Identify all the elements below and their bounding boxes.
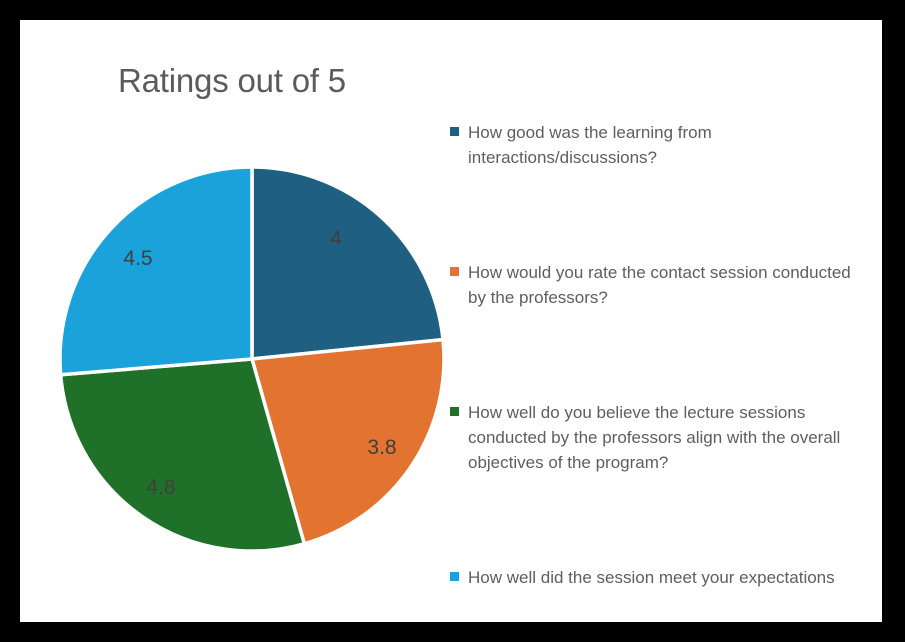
pie-slice-data-label: 3.8 (367, 436, 396, 459)
chart-legend: How good was the learning from interacti… (450, 120, 870, 590)
legend-swatch-icon (450, 407, 459, 416)
legend-swatch-icon (450, 127, 459, 136)
pie-chart-plot-area: 43.84.84.5 (20, 20, 450, 622)
legend-item-label: How would you rate the contact session c… (468, 260, 866, 310)
legend-item[interactable]: How good was the learning from interacti… (450, 120, 870, 170)
legend-item[interactable]: How well did the session meet your expec… (450, 565, 870, 590)
pie-slice-data-label: 4 (330, 227, 342, 250)
legend-item[interactable]: How well do you believe the lecture sess… (450, 400, 870, 475)
legend-swatch-icon (450, 267, 459, 276)
pie-slice[interactable] (60, 167, 252, 375)
legend-swatch-icon (450, 572, 459, 581)
slide-frame: Ratings out of 5 43.84.84.5 How good was… (0, 0, 905, 642)
slide-canvas: Ratings out of 5 43.84.84.5 How good was… (20, 20, 882, 622)
legend-item-label: How good was the learning from interacti… (468, 120, 866, 170)
pie-slice-data-label: 4.5 (123, 247, 152, 270)
pie-slice-data-label: 4.8 (146, 476, 175, 499)
legend-item[interactable]: How would you rate the contact session c… (450, 260, 870, 310)
legend-item-label: How well do you believe the lecture sess… (468, 400, 866, 475)
legend-item-label: How well did the session meet your expec… (468, 565, 835, 590)
pie-slice[interactable] (252, 167, 443, 359)
pie-chart-svg: 43.84.84.5 (35, 132, 445, 552)
